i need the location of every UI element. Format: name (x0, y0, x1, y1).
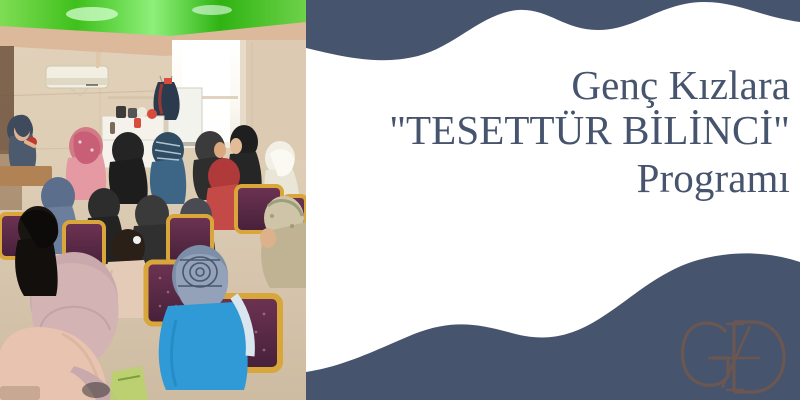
headline-line-3: Programı (320, 157, 790, 200)
poster-canvas: Genç Kızlara "TESETTÜR BİLİNCİ" Programı (0, 0, 800, 400)
event-photo (0, 0, 306, 400)
gd-logo: GENÇLİK DERNEĞİ (664, 310, 794, 400)
headline-line-1: Genç Kızlara (320, 64, 790, 107)
headline-block: Genç Kızlara "TESETTÜR BİLİNCİ" Programı (320, 64, 790, 200)
title-panel: Genç Kızlara "TESETTÜR BİLİNCİ" Programı (306, 0, 800, 400)
headline-line-2: "TESETTÜR BİLİNCİ" (320, 109, 790, 152)
gd-monogram-icon (664, 310, 794, 400)
top-wave-band (306, 0, 800, 60)
event-photo-illustration (0, 0, 306, 400)
